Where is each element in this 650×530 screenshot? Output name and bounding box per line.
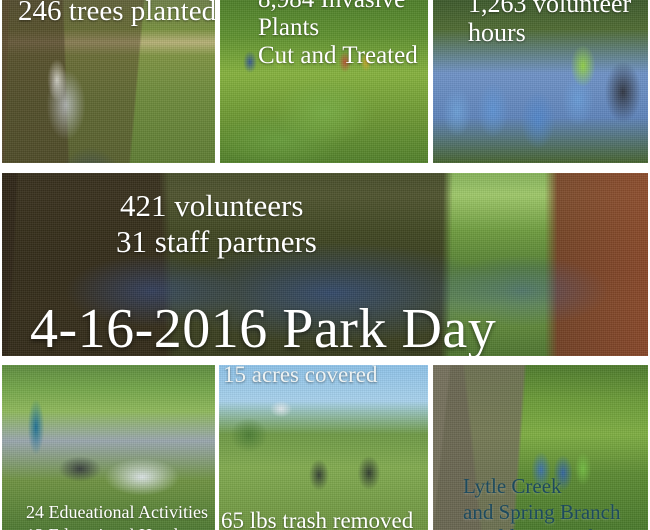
panel-educational-activities: 24 Edueational Activities 12 Educational… — [2, 365, 215, 530]
caption-volunteer-hours: 1,263 volunteer hours — [468, 0, 643, 47]
panel-park-day-banner: 421 volunteers 31 staff partners 4-16-20… — [2, 173, 648, 356]
panel-acres-and-trash: 15 acres covered 65 lbs trash removed — [219, 365, 428, 530]
caption-line-2: 12 Educational Handouts — [26, 524, 215, 530]
park-day-photo-collage: 246 trees planted 8,984 Invasive Plants … — [0, 0, 650, 530]
caption-line-3: at Old Fort Park — [463, 525, 648, 530]
caption-line-3: Cut and Treated — [258, 42, 428, 70]
caption-line-1: 24 Edueational Activities — [26, 501, 215, 524]
caption-line-1: 8,984 Invasive — [258, 0, 428, 14]
caption-educational: 24 Edueational Activities 12 Educational… — [26, 501, 215, 530]
panel-trees-planted: 246 trees planted — [2, 0, 215, 163]
panel-lytle-creek-location: Lytle Creek and Spring Branch at Old For… — [433, 365, 648, 530]
caption-line-1: 1,263 volunteer — [468, 0, 643, 19]
caption-line-2: Plants — [258, 14, 428, 42]
caption-acres-covered: 15 acres covered — [223, 365, 378, 388]
caption-line-2: and Spring Branch — [463, 500, 648, 525]
caption-line-2: hours — [468, 19, 643, 48]
caption-line-1: Lytle Creek — [463, 474, 648, 499]
caption-trees-planted: 246 trees planted — [18, 0, 215, 27]
caption-staff-partners: 31 staff partners — [116, 225, 317, 258]
caption-trash-removed: 65 lbs trash removed — [221, 509, 413, 530]
caption-location: Lytle Creek and Spring Branch at Old For… — [463, 474, 648, 530]
photo-texture-overlay — [219, 365, 428, 530]
poster-title: 4-16-2016 Park Day — [30, 299, 496, 356]
panel-invasive-plants: 8,984 Invasive Plants Cut and Treated — [220, 0, 428, 163]
caption-invasive-plants: 8,984 Invasive Plants Cut and Treated — [258, 0, 428, 70]
panel-volunteer-hours: 1,263 volunteer hours — [433, 0, 648, 163]
caption-volunteer-count: 421 volunteers — [120, 189, 303, 222]
